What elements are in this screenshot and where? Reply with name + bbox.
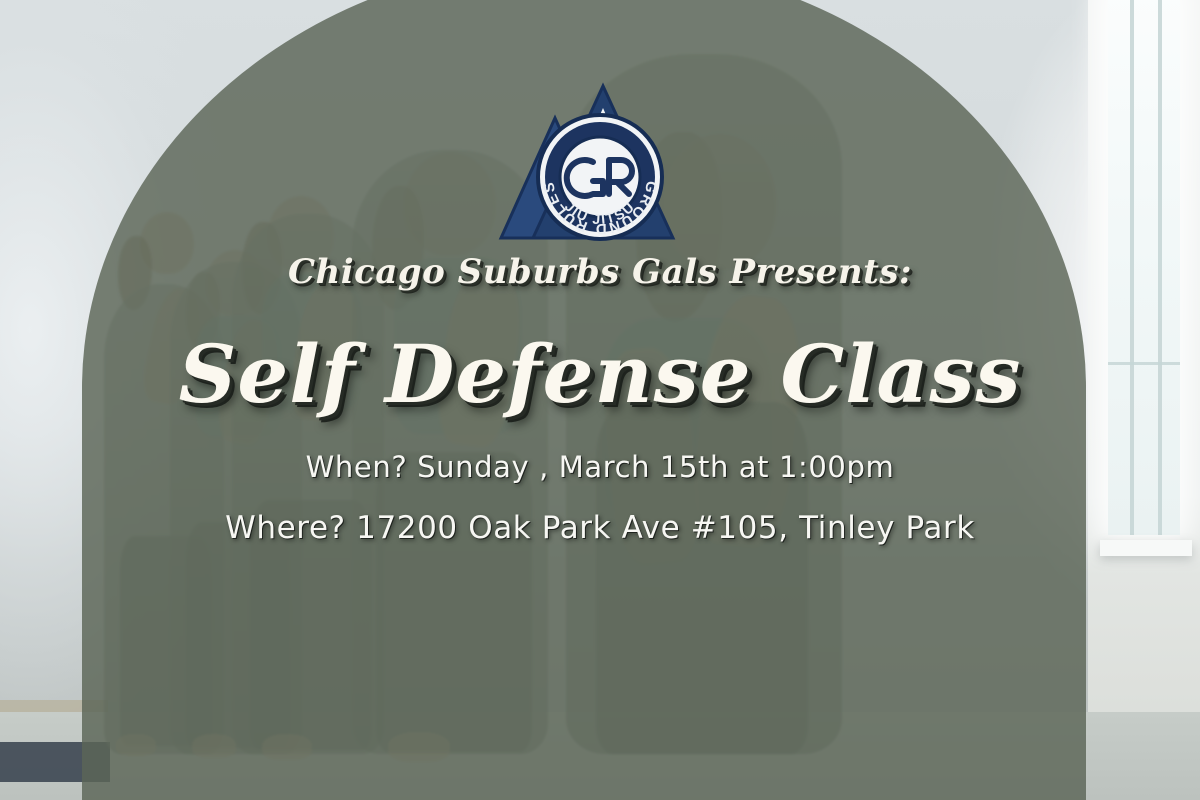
when-line: When? Sunday , March 15th at 1:00pm bbox=[0, 450, 1200, 484]
when-text: When? Sunday , March 15th at 1:00pm bbox=[306, 450, 895, 484]
where-text: Where? 17200 Oak Park Ave #105, Tinley P… bbox=[225, 510, 975, 546]
page-title: Self Defense Class bbox=[0, 334, 1200, 414]
where-line: Where? 17200 Oak Park Ave #105, Tinley P… bbox=[0, 510, 1200, 546]
event-flyer: GROUND RULES JIU JITSU Chicago Suburbs G… bbox=[0, 0, 1200, 800]
ground-rules-jiu-jitsu-logo: GROUND RULES JIU JITSU bbox=[485, 72, 715, 252]
flyer-content: GROUND RULES JIU JITSU Chicago Suburbs G… bbox=[0, 0, 1200, 800]
presents-line: Chicago Suburbs Gals Presents: bbox=[0, 252, 1200, 292]
